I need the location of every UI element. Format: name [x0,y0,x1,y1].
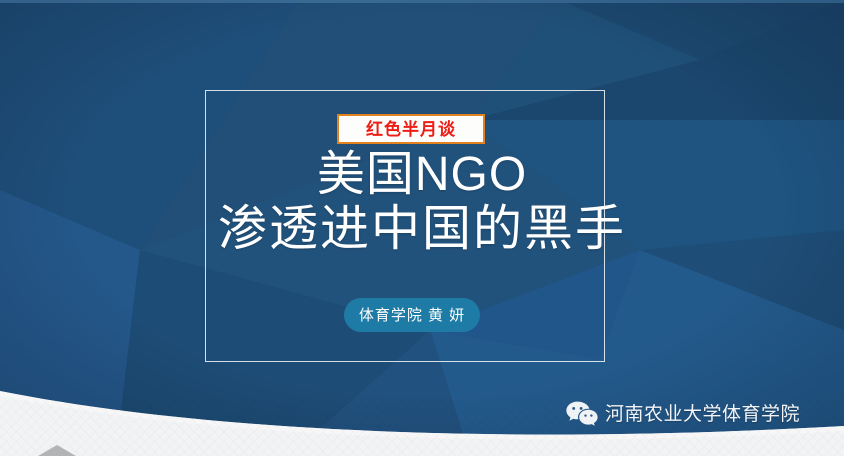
badge-label: 红色半月谈 [366,121,456,138]
top-accent-strip [0,0,844,3]
status-badge: 红色半月谈 [337,114,485,144]
author-badge: 体育学院 黄 妍 [344,298,480,332]
wechat-watermark: 河南农业大学体育学院 [566,401,800,428]
wechat-icon [566,401,598,428]
triangle-up-icon [38,445,76,456]
author-label: 体育学院 黄 妍 [359,308,465,323]
presentation-slide: 红色半月谈 美国NGO 渗透进中国的黑手 体育学院 黄 妍 河南农业大学体育学院 [0,0,844,456]
watermark-label: 河南农业大学体育学院 [605,405,800,424]
